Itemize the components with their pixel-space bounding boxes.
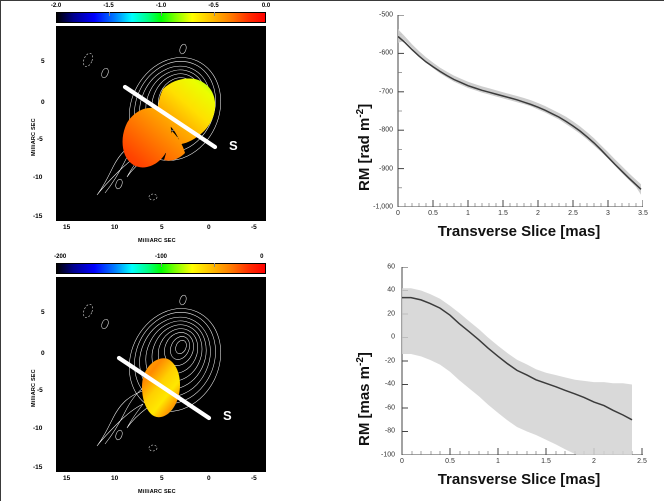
slice-top-ylabel-1: -600 bbox=[361, 50, 393, 57]
slice-top-ylabel: RM [rad m-2] bbox=[355, 104, 373, 191]
map-bottom-ytick-2: -5 bbox=[37, 387, 43, 394]
slice-bottom-ylabel-7: -80 bbox=[365, 428, 395, 435]
slice-bottom-ylabel-0: 60 bbox=[369, 264, 395, 271]
map-top-xtick-1: 10 bbox=[111, 224, 118, 231]
slice-top-xlabel-3: 1.5 bbox=[498, 210, 508, 217]
map-bottom-ytick-3: -10 bbox=[33, 425, 42, 432]
slice-bottom-ylabel-5: -40 bbox=[365, 381, 395, 388]
map-top-yaxis-title: MilliARC SEC bbox=[31, 118, 37, 156]
slice-bottom-ylabel-8: -100 bbox=[361, 452, 395, 459]
colorbar-bottom-gradient bbox=[56, 263, 266, 274]
map-top-xtick-2: 5 bbox=[160, 224, 164, 231]
colorbar-top-tick-1: -1.5 bbox=[103, 3, 113, 9]
panel-slice-bottom: RM [mas m-2] bbox=[333, 251, 664, 502]
map-top-ytick-1: 0 bbox=[41, 99, 45, 106]
slice-top-ylabel-5: -1,000 bbox=[357, 204, 393, 211]
colorbar-top-tick-0: -2.0 bbox=[51, 3, 61, 9]
slice-bottom-ylabel-3: 0 bbox=[369, 334, 395, 341]
slice-top-ylabel-0: -500 bbox=[361, 12, 393, 19]
map-bottom-xtick-4: -5 bbox=[251, 475, 257, 482]
map-bottom-ytick-4: -15 bbox=[33, 464, 42, 471]
slice-top-xlabel-4: 2 bbox=[536, 210, 540, 217]
map-bottom-ytick-0: 5 bbox=[41, 309, 45, 316]
map-bottom-xtick-3: 0 bbox=[207, 475, 211, 482]
slice-bottom-xlabel-4: 2 bbox=[592, 458, 596, 465]
map-top-ytick-3: -10 bbox=[33, 174, 42, 181]
colorbar-bottom-tick-2: 0 bbox=[260, 254, 263, 260]
slice-top-xlabel-1: 0.5 bbox=[428, 210, 438, 217]
map-top-xtick-4: -5 bbox=[251, 224, 257, 231]
slice-label-bottom: S bbox=[223, 408, 232, 423]
colorbar-top-gradient bbox=[56, 12, 266, 23]
slice-bottom-xlabel-3: 1.5 bbox=[541, 458, 551, 465]
map-top-ytick-0: 5 bbox=[41, 58, 45, 65]
map-bottom-xaxis-title: MilliARC SEC bbox=[138, 489, 176, 495]
slice-bottom-xaxis-title: Transverse Slice [mas] bbox=[395, 471, 643, 488]
panel-map-bottom: -200 -100 0 bbox=[1, 251, 333, 502]
panel-map-top: -2.0 -1.5 -1.0 -0.5 0.0 bbox=[1, 1, 333, 251]
map-top-xtick-3: 0 bbox=[207, 224, 211, 231]
map-bottom-xtick-2: 5 bbox=[160, 475, 164, 482]
sky-image-bottom-canvas bbox=[57, 278, 266, 472]
slice-bottom-xlabel-5: 2.5 bbox=[637, 458, 647, 465]
slice-top-xlabel-6: 3 bbox=[606, 210, 610, 217]
slice-top-canvas bbox=[395, 15, 643, 207]
colorbar-bottom-tick-0: -200 bbox=[54, 254, 66, 260]
colorbar-top-ticklabels: -2.0 -1.5 -1.0 -0.5 0.0 bbox=[56, 3, 266, 12]
slice-bottom-xlabel-2: 1 bbox=[496, 458, 500, 465]
slice-top-plot-area[interactable] bbox=[395, 15, 643, 207]
slice-bottom-plot-area[interactable] bbox=[399, 267, 643, 455]
slice-top-xlabel-2: 1 bbox=[466, 210, 470, 217]
sky-image-bottom[interactable] bbox=[56, 277, 266, 472]
map-bottom-xtick-0: 15 bbox=[63, 475, 70, 482]
colorbar-top bbox=[56, 12, 266, 23]
map-bottom-xtick-1: 10 bbox=[111, 475, 118, 482]
slice-bottom-ylabel-4: -20 bbox=[365, 358, 395, 365]
slice-top-xlabel-7: 3.5 bbox=[638, 210, 648, 217]
slice-bottom-canvas bbox=[399, 267, 643, 455]
colorbar-top-tick-2: -1.0 bbox=[156, 3, 166, 9]
sky-image-top-canvas bbox=[57, 27, 266, 221]
slice-top-xlabel-0: 0 bbox=[396, 210, 400, 217]
colorbar-bottom bbox=[56, 263, 266, 274]
slice-top-ylabel-2: -700 bbox=[361, 89, 393, 96]
slice-bottom-xlabel-0: 0 bbox=[400, 458, 404, 465]
map-top-xaxis-title: MilliARC SEC bbox=[138, 238, 176, 244]
slice-top-ylabel-3: -800 bbox=[361, 127, 393, 134]
map-top-ytick-2: -5 bbox=[37, 136, 43, 143]
panel-slice-top: RM [rad m-2] bbox=[333, 1, 664, 251]
slice-top-xaxis-title: Transverse Slice [mas] bbox=[395, 223, 643, 240]
colorbar-top-tick-3: -0.5 bbox=[208, 3, 218, 9]
map-top-xtick-0: 15 bbox=[63, 224, 70, 231]
slice-top-ylabel-4: -900 bbox=[361, 166, 393, 173]
slice-top-xlabel-5: 2.5 bbox=[568, 210, 578, 217]
slice-bottom-ylabel-6: -60 bbox=[365, 405, 395, 412]
colorbar-bottom-ticklabels: -200 -100 0 bbox=[56, 254, 266, 263]
slice-bottom-xlabel-1: 0.5 bbox=[445, 458, 455, 465]
map-top-ytick-4: -15 bbox=[33, 213, 42, 220]
colorbar-bottom-tick-1: -100 bbox=[155, 254, 167, 260]
slice-label-top: S bbox=[229, 138, 238, 153]
map-bottom-yaxis-title: MilliARC SEC bbox=[31, 369, 37, 407]
figure-root: -2.0 -1.5 -1.0 -0.5 0.0 bbox=[1, 1, 663, 500]
colorbar-top-tick-4: 0.0 bbox=[262, 3, 270, 9]
map-bottom-ytick-1: 0 bbox=[41, 350, 45, 357]
slice-bottom-ylabel-2: 20 bbox=[369, 311, 395, 318]
sky-image-top[interactable] bbox=[56, 26, 266, 221]
slice-bottom-ylabel-1: 40 bbox=[369, 287, 395, 294]
